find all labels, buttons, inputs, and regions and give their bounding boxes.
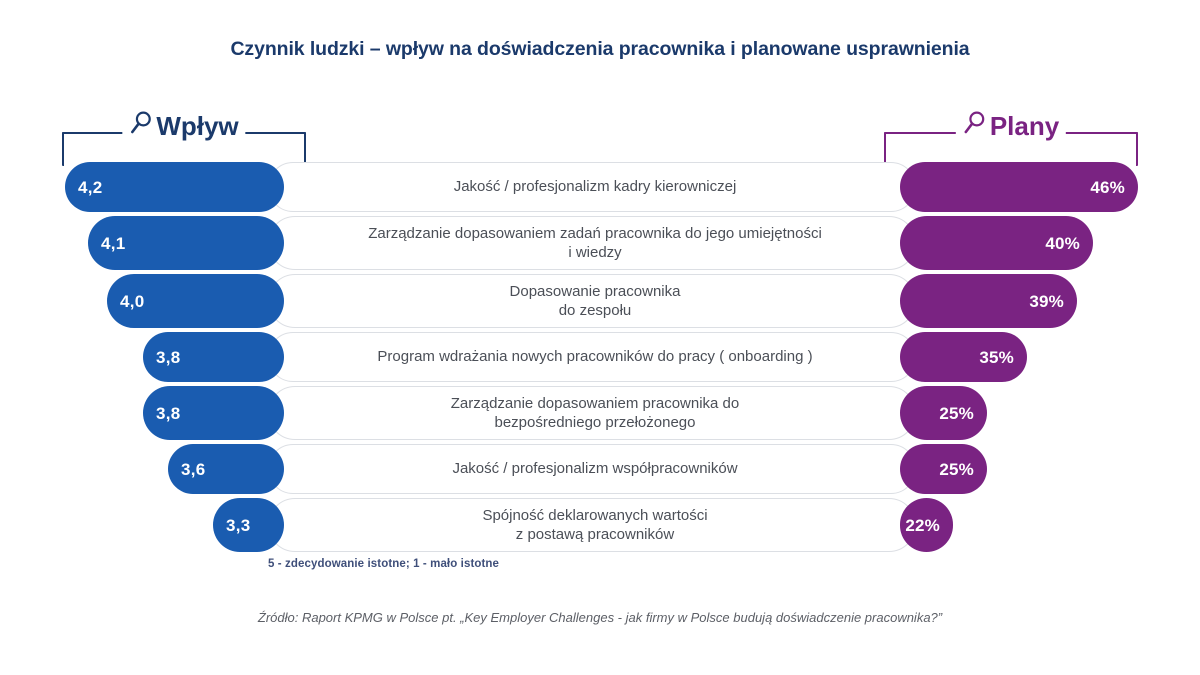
impact-value: 3,8 <box>156 405 181 422</box>
plan-bar: 25% <box>900 386 987 440</box>
row-label: Zarządzanie dopasowaniem zadań pracownik… <box>290 216 900 270</box>
impact-value: 4,0 <box>120 293 145 310</box>
table-row: 4,039%Dopasowanie pracownikado zespołu <box>0 274 1200 328</box>
plan-value: 25% <box>939 405 974 422</box>
row-label-line: z postawą pracowników <box>482 525 707 544</box>
bar-rows: 4,246%Jakość / profesjonalizm kadry kier… <box>0 162 1200 556</box>
impact-value: 3,6 <box>181 461 206 478</box>
magnifier-icon <box>963 110 987 141</box>
plan-value: 25% <box>939 461 974 478</box>
impact-value: 3,8 <box>156 349 181 366</box>
row-label-line: Jakość / profesjonalizm kadry kierownicz… <box>454 177 737 196</box>
impact-value: 4,2 <box>78 179 103 196</box>
row-label-line: i wiedzy <box>368 243 822 262</box>
impact-bar: 3,6 <box>168 444 284 494</box>
row-label-line: Dopasowanie pracownika <box>510 282 681 301</box>
impact-header-text: Wpływ <box>156 113 238 139</box>
plan-value: 39% <box>1029 293 1064 310</box>
plan-bar: 25% <box>900 444 987 494</box>
row-label: Spójność deklarowanych wartościz postawą… <box>290 498 900 552</box>
plan-bar: 40% <box>900 216 1093 270</box>
impact-bar: 3,8 <box>143 332 284 382</box>
impact-bar: 3,8 <box>143 386 284 440</box>
table-row: 3,322%Spójność deklarowanych wartościz p… <box>0 498 1200 552</box>
magnifier-icon <box>129 110 153 141</box>
row-label-line: Spójność deklarowanych wartości <box>482 506 707 525</box>
plan-value: 46% <box>1090 179 1125 196</box>
table-row: 3,625%Jakość / profesjonalizm współpraco… <box>0 444 1200 494</box>
row-label-line: Zarządzanie dopasowaniem pracownika do <box>451 394 740 413</box>
plans-header-label-group: Plany <box>956 110 1066 141</box>
scale-footnote: 5 - zdecydowanie istotne; 1 - mało istot… <box>268 558 499 570</box>
plans-column-header: Plany <box>884 108 1138 166</box>
plans-header-text: Plany <box>990 113 1059 139</box>
impact-bar: 4,0 <box>107 274 284 328</box>
row-label-line: bezpośredniego przełożonego <box>451 413 740 432</box>
row-label: Jakość / profesjonalizm kadry kierownicz… <box>290 162 900 212</box>
impact-bar: 3,3 <box>213 498 284 552</box>
impact-value: 3,3 <box>226 517 251 534</box>
table-row: 4,140%Zarządzanie dopasowaniem zadań pra… <box>0 216 1200 270</box>
row-label: Dopasowanie pracownikado zespołu <box>290 274 900 328</box>
plan-value: 35% <box>979 349 1014 366</box>
impact-value: 4,1 <box>101 235 126 252</box>
infographic-canvas: Czynnik ludzki – wpływ na doświadczenia … <box>0 0 1200 675</box>
source-caption: Źródło: Raport KPMG w Polsce pt. „Key Em… <box>0 610 1200 625</box>
table-row: 3,825%Zarządzanie dopasowaniem pracownik… <box>0 386 1200 440</box>
plan-bar: 39% <box>900 274 1077 328</box>
row-label-line: do zespołu <box>510 301 681 320</box>
plan-bar: 22% <box>900 498 953 552</box>
impact-header-label-group: Wpływ <box>122 110 245 141</box>
row-label-line: Jakość / profesjonalizm współpracowników <box>452 459 737 478</box>
row-label-line: Program wdrażania nowych pracowników do … <box>377 347 812 366</box>
row-label: Program wdrażania nowych pracowników do … <box>290 332 900 382</box>
row-label: Jakość / profesjonalizm współpracowników <box>290 444 900 494</box>
row-label: Zarządzanie dopasowaniem pracownika dobe… <box>290 386 900 440</box>
plan-value: 22% <box>905 517 940 534</box>
plan-bar: 46% <box>900 162 1138 212</box>
table-row: 3,835%Program wdrażania nowych pracownik… <box>0 332 1200 382</box>
plan-value: 40% <box>1045 235 1080 252</box>
impact-bar: 4,1 <box>88 216 284 270</box>
row-label-line: Zarządzanie dopasowaniem zadań pracownik… <box>368 224 822 243</box>
plan-bar: 35% <box>900 332 1027 382</box>
impact-bar: 4,2 <box>65 162 284 212</box>
page-title: Czynnik ludzki – wpływ na doświadczenia … <box>0 38 1200 61</box>
impact-column-header: Wpływ <box>62 108 306 166</box>
table-row: 4,246%Jakość / profesjonalizm kadry kier… <box>0 162 1200 212</box>
